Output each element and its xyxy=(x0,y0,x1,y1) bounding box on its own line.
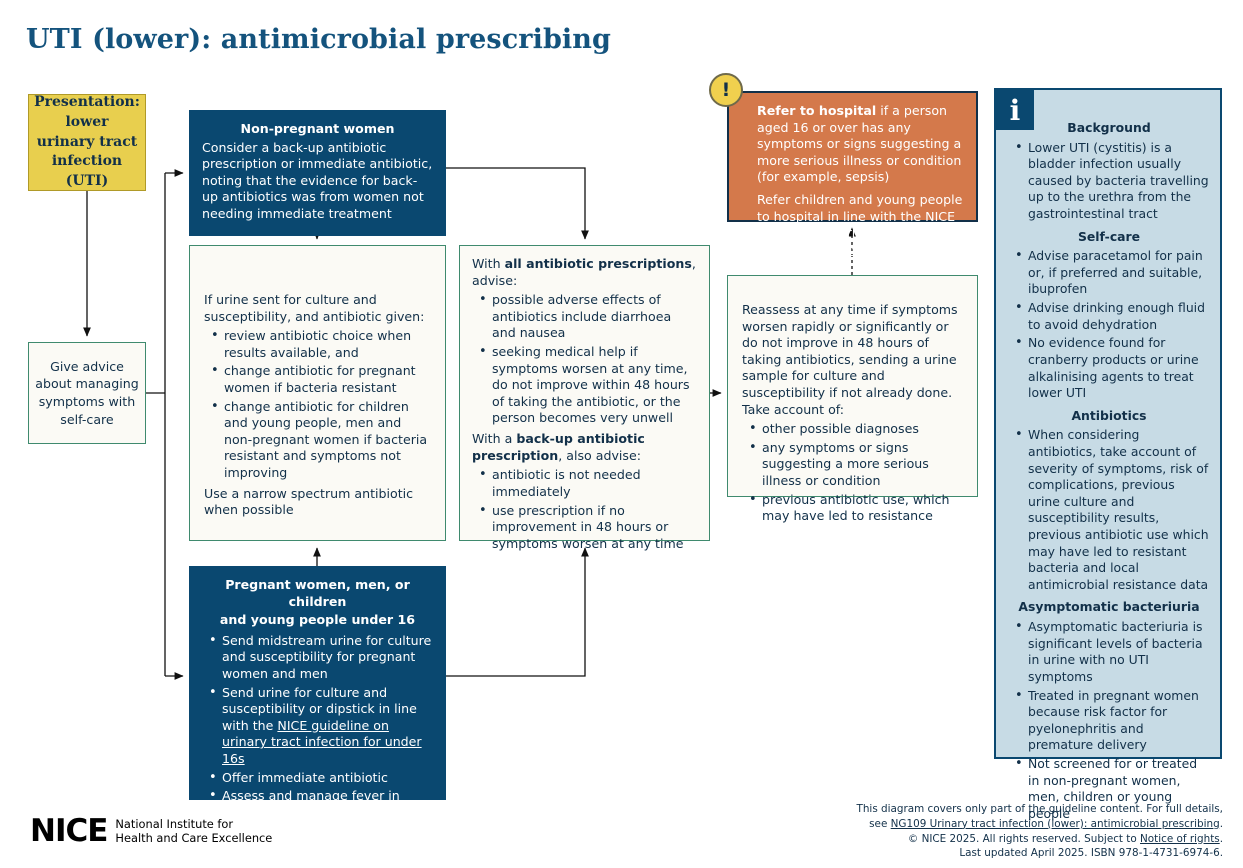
allabx-intro: With all antibiotic prescriptions, advis… xyxy=(472,256,697,289)
footer-line-2-post: . xyxy=(1220,818,1223,830)
allabx-intro-2: With a back-up antibiotic prescription, … xyxy=(472,431,697,464)
footer-line-2-pre: see xyxy=(869,818,891,830)
allabx-intro2-post: , also advise: xyxy=(558,448,641,463)
list-item: previous antibiotic use, which may have … xyxy=(762,492,965,525)
nice-logo-subtitle-line-2: Health and Care Excellence xyxy=(115,832,272,845)
presentation-box: Presentation: lower urinary tract infect… xyxy=(28,94,146,191)
culture-bullet-list: review antibiotic choice when results av… xyxy=(204,328,433,481)
footer-note: This diagram covers only part of the gui… xyxy=(703,802,1223,861)
list-item: Send urine for culture and susceptibilit… xyxy=(222,685,433,768)
list-item: No evidence found for cranberry products… xyxy=(1028,335,1210,401)
presentation-text: Presentation: lower urinary tract infect… xyxy=(34,93,140,192)
list-item: Treated in pregnant women because risk f… xyxy=(1028,688,1210,754)
footer-line-2: see NG109 Urinary tract infection (lower… xyxy=(703,817,1223,832)
presentation-line-1: Presentation: xyxy=(34,93,140,113)
self-care-line-1: Give advice xyxy=(35,358,139,376)
presentation-line-2: lower xyxy=(34,113,140,133)
refer-paragraph-2: Refer children and young people to hospi… xyxy=(757,192,966,258)
warning-icon: ! xyxy=(709,73,743,107)
pregnant-bullet-list: Send midstream urine for culture and sus… xyxy=(202,633,433,838)
non-pregnant-women-title: Non-pregnant women xyxy=(202,121,433,138)
self-care-line-2: about managing xyxy=(35,375,139,393)
self-care-line-3: symptoms with xyxy=(35,393,139,411)
list-item: possible adverse effects of antibiotics … xyxy=(492,292,697,342)
all-antibiotic-prescriptions-box: With all antibiotic prescriptions, advis… xyxy=(459,245,710,541)
link-ng109-guideline[interactable]: NG109 Urinary tract infection (lower): a… xyxy=(891,818,1220,830)
info-heading-antibiotics: Antibiotics xyxy=(1008,408,1210,425)
allabx-bullet-list-2: antibiotic is not needed immediately use… xyxy=(472,467,697,552)
non-pregnant-women-body: Consider a back-up antibiotic prescripti… xyxy=(202,140,433,223)
nice-wordmark: NICE xyxy=(30,816,107,847)
list-item: other possible diagnoses xyxy=(762,421,965,438)
info-icon: i xyxy=(996,90,1034,130)
allabx-intro2-pre: With a xyxy=(472,431,516,446)
list-item: antibiotic is not needed immediately xyxy=(492,467,697,500)
non-pregnant-women-box: Non-pregnant women Consider a back-up an… xyxy=(189,110,446,236)
reassess-bullet-list: other possible diagnoses any symptoms or… xyxy=(742,421,965,525)
info-icon-glyph: i xyxy=(1010,94,1021,127)
pregnant-box-title-line-1: Pregnant women, men, or children xyxy=(202,577,433,610)
pregnant-men-children-box: Pregnant women, men, or children and you… xyxy=(189,566,446,800)
reassess-box: Reassess at any time if symptoms worsen … xyxy=(727,275,978,497)
background-info-panel: Background Lower UTI (cystitis) is a bla… xyxy=(994,88,1222,759)
allabx-intro-pre: With xyxy=(472,256,505,271)
info-heading-background: Background xyxy=(1008,120,1210,137)
list-item: Send midstream urine for culture and sus… xyxy=(222,633,433,683)
info-bullets-self-care: Advise paracetamol for pain or, if prefe… xyxy=(1008,248,1210,401)
footer-line-4: Last updated April 2025. ISBN 978-1-4731… xyxy=(703,846,1223,861)
reassess-intro: Reassess at any time if symptoms worsen … xyxy=(742,302,965,418)
info-bullets-asymptomatic-bacteriuria: Asymptomatic bacteriuria is significant … xyxy=(1008,619,1210,822)
footer-line-1: This diagram covers only part of the gui… xyxy=(703,802,1223,817)
list-item: Advise drinking enough fluid to avoid de… xyxy=(1028,300,1210,333)
self-care-text: Give advice about managing symptoms with… xyxy=(35,358,139,429)
link-notice-of-rights[interactable]: Notice of rights xyxy=(1140,833,1220,845)
pregnant-bullet-3-text: Offer immediate antibiotic xyxy=(222,770,388,785)
pregnant-box-title-line-2: and young people under 16 xyxy=(202,612,433,629)
culture-closing: Use a narrow spectrum antibiotic when po… xyxy=(204,486,433,519)
info-heading-self-care: Self-care xyxy=(1008,229,1210,246)
list-item: any symptoms or signs suggesting a more … xyxy=(762,440,965,490)
list-item: Offer immediate antibiotic xyxy=(222,770,433,787)
nice-logo-subtitle-line-1: National Institute for xyxy=(115,818,272,831)
list-item: When considering antibiotics, take accou… xyxy=(1028,427,1210,593)
culture-susceptibility-box: If urine sent for culture and susceptibi… xyxy=(189,245,446,541)
self-care-box: Give advice about managing symptoms with… xyxy=(28,342,146,444)
footer-line-3-pre: © NICE 2025. All rights reserved. Subjec… xyxy=(908,833,1140,845)
refer-paragraph-1: Refer to hospital if a person aged 16 or… xyxy=(757,103,966,186)
refer-to-hospital-box: Refer to hospital if a person aged 16 or… xyxy=(727,91,978,222)
info-panel-body: Background Lower UTI (cystitis) is a bla… xyxy=(996,90,1220,834)
footer-line-3: © NICE 2025. All rights reserved. Subjec… xyxy=(703,832,1223,847)
warning-icon-glyph: ! xyxy=(722,79,731,101)
list-item: Lower UTI (cystitis) is a bladder infect… xyxy=(1028,140,1210,223)
nice-logo: NICE National Institute for Health and C… xyxy=(30,816,272,847)
list-item: seeking medical help if symptoms worsen … xyxy=(492,344,697,427)
presentation-line-4: infection xyxy=(34,152,140,172)
list-item: review antibiotic choice when results av… xyxy=(224,328,433,361)
presentation-line-5: (UTI) xyxy=(34,172,140,192)
list-item: Advise paracetamol for pain or, if prefe… xyxy=(1028,248,1210,298)
list-item: change antibiotic for pregnant women if … xyxy=(224,363,433,396)
info-bullets-antibiotics: When considering antibiotics, take accou… xyxy=(1008,427,1210,593)
footer-line-3-post: . xyxy=(1220,833,1223,845)
list-item: use prescription if no improvement in 48… xyxy=(492,503,697,553)
info-bullets-background: Lower UTI (cystitis) is a bladder infect… xyxy=(1008,140,1210,223)
list-item: Asymptomatic bacteriuria is significant … xyxy=(1028,619,1210,685)
pregnant-bullet-1-text: Send midstream urine for culture and sus… xyxy=(222,633,431,681)
info-heading-asymptomatic-bacteriuria: Asymptomatic bacteriuria xyxy=(1008,599,1210,616)
allabx-intro-bold: all antibiotic prescriptions xyxy=(505,256,692,271)
list-item: change antibiotic for children and young… xyxy=(224,399,433,482)
refer-bold-lead: Refer to hospital xyxy=(757,103,876,118)
culture-intro: If urine sent for culture and susceptibi… xyxy=(204,292,433,325)
nice-logo-subtitle: National Institute for Health and Care E… xyxy=(115,818,272,845)
diagram-canvas: UTI (lower): antimicrobial prescribing xyxy=(0,0,1243,868)
presentation-line-3: urinary tract xyxy=(34,133,140,153)
allabx-bullet-list-1: possible adverse effects of antibiotics … xyxy=(472,292,697,427)
page-title: UTI (lower): antimicrobial prescribing xyxy=(26,24,926,55)
self-care-line-4: self-care xyxy=(35,411,139,429)
